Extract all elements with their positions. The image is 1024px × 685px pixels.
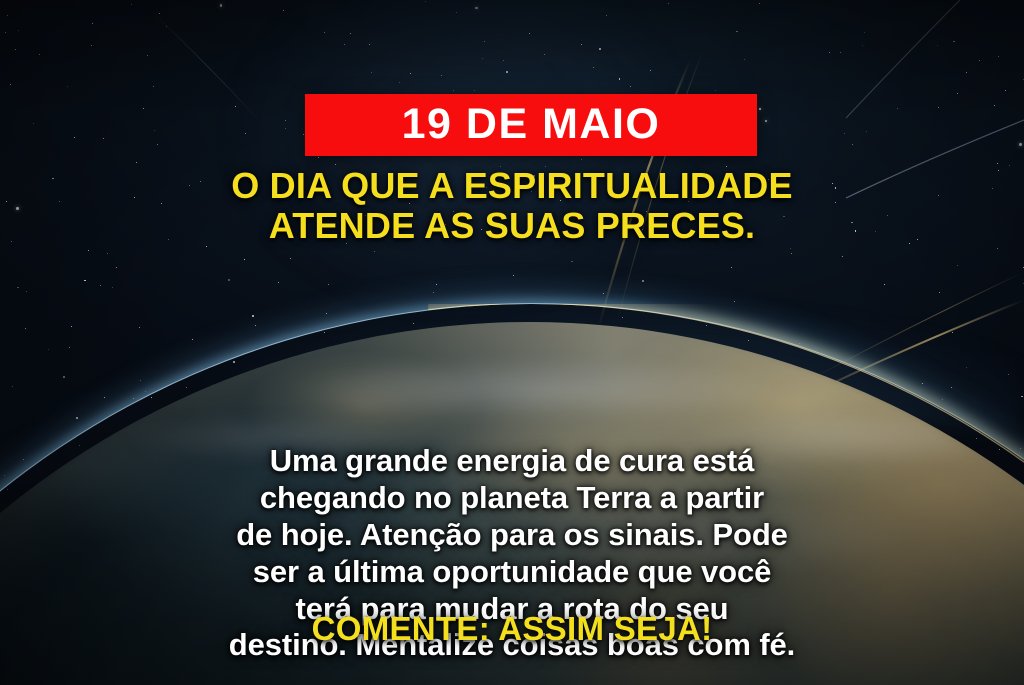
date-banner-text: 19 DE MAIO: [402, 103, 661, 146]
body-line: Uma grande energia de cura está: [58, 443, 966, 480]
date-banner: 19 DE MAIO: [305, 94, 757, 156]
body-line: ser a última oportunidade que você: [58, 554, 966, 591]
headline-line-2: ATENDE AS SUAS PRECES.: [40, 206, 984, 246]
call-to-action-text: COMENTE: ASSIM SEJA!: [0, 612, 1024, 645]
poster-content: 19 DE MAIO O DIA QUE A ESPIRITUALIDADE A…: [0, 0, 1024, 685]
body-line: chegando no planeta Terra a partir: [58, 480, 966, 517]
poster-canvas: 19 DE MAIO O DIA QUE A ESPIRITUALIDADE A…: [0, 0, 1024, 685]
cta-label: COMENTE: ASSIM SEJA!: [312, 610, 713, 647]
body-line: de hoje. Atenção para os sinais. Pode: [58, 517, 966, 554]
headline: O DIA QUE A ESPIRITUALIDADE ATENDE AS SU…: [0, 166, 1024, 247]
headline-line-1: O DIA QUE A ESPIRITUALIDADE: [40, 166, 984, 206]
